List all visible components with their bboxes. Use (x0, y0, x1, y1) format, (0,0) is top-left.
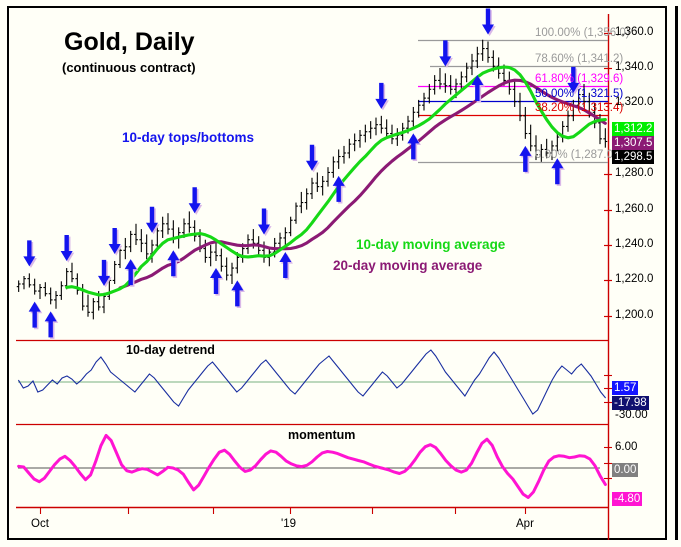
date-axis-label: Oct (31, 518, 49, 530)
price-value-badge: 1,298.5 (612, 150, 654, 164)
price-axis-label: 1,320.0 (615, 96, 653, 108)
annotation-detrend: 10-day detrend (126, 343, 215, 357)
price-axis-label: 1,220.0 (615, 273, 653, 285)
price-axis-label: 1,240.0 (615, 238, 653, 250)
chart-container: Gold, Daily (continuous contract) 10-day… (0, 0, 681, 547)
fibonacci-level-label: 61.80% (1,329.6) (535, 73, 623, 85)
fibonacci-level-label: 0.00% (1,287.0) (535, 149, 617, 161)
fibonacci-level-label: 38.20% (1,313.4) (535, 102, 623, 114)
ma20-line (120, 80, 605, 288)
price-axis-label: 1,360.0 (615, 26, 653, 38)
oscillator-axis-label: 6.00 (615, 441, 637, 453)
top-bottom-arrow-group (23, 8, 581, 338)
price-axis-label: 1,260.0 (615, 203, 653, 215)
fibonacci-level-label: 78.60% (1,341.2) (535, 53, 623, 65)
detrend-value-badge: 1.57 (612, 381, 638, 395)
price-value-badge: 1,312.2 (612, 122, 654, 136)
price-axis-label: 1,200.0 (615, 309, 653, 321)
page-subtitle: (continuous contract) (62, 60, 196, 75)
page-title: Gold, Daily (64, 28, 195, 57)
legend-ma20-label: 20-day moving average (333, 258, 482, 273)
price-axis-label: 1,340.0 (615, 61, 653, 73)
date-axis-label: Apr (516, 518, 534, 530)
momentum-value-badge: -4.80 (612, 492, 642, 506)
price-value-badge: 1,307.5 (612, 136, 654, 150)
date-axis-label: '19 (281, 518, 296, 530)
legend-ma10-label: 10-day moving average (356, 237, 505, 252)
momentum-line (19, 435, 606, 497)
fibonacci-level-label: 50.00% (1,321.5) (535, 88, 623, 100)
price-axis-label: 1,280.0 (615, 167, 653, 179)
detrend-value-badge: -17.98 (612, 396, 649, 410)
annotation-tops-bottoms: 10-day tops/bottoms (122, 130, 254, 145)
annotation-momentum: momentum (288, 428, 355, 442)
momentum-value-badge: 0.00 (612, 463, 638, 477)
oscillator-axis-label: -30.00 (615, 409, 648, 421)
